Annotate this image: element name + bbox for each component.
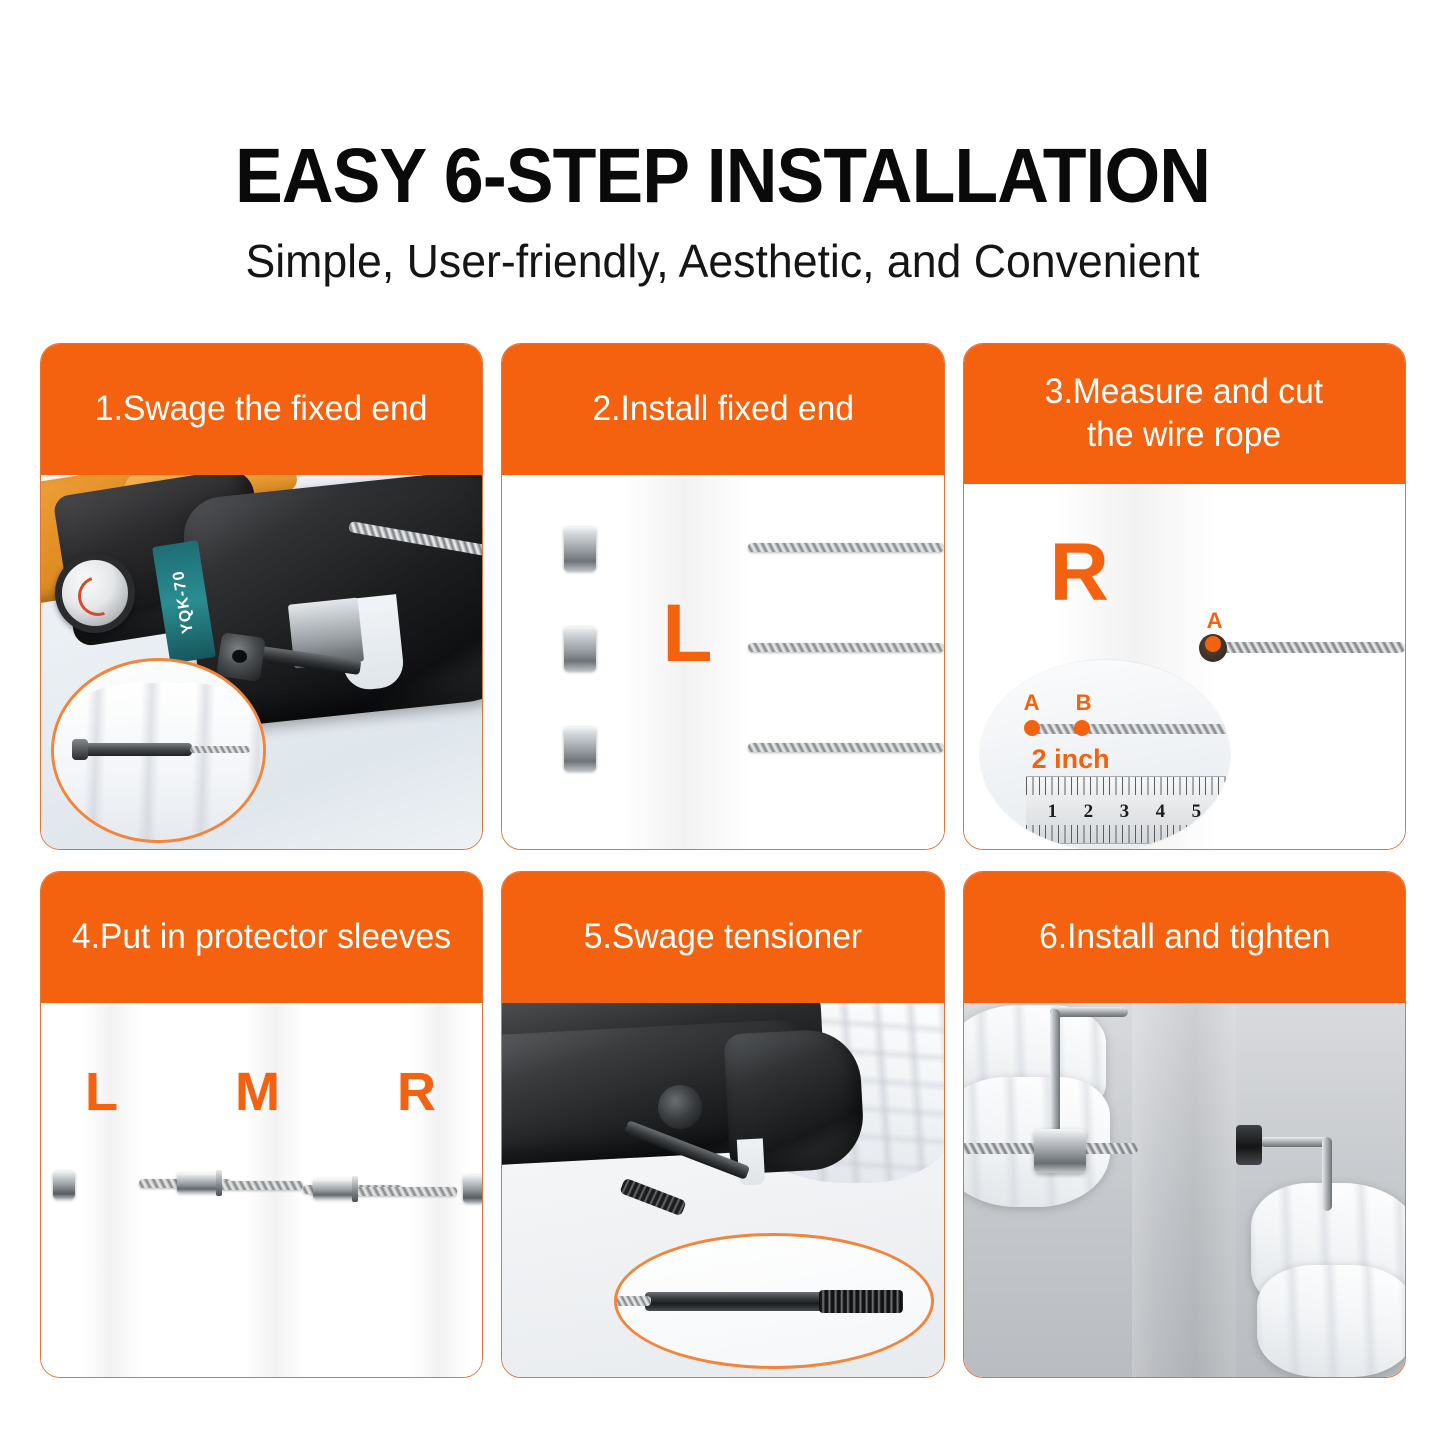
allen-key-right-shaft [1260,1137,1332,1147]
gloved-hand [51,683,266,843]
allen-key-right-handle [1322,1137,1332,1211]
step-2-header: 2.Install fixed end [502,344,943,475]
step-4-title: 4.Put in protector sleeves [72,916,451,959]
ruler-tick-2: 2 [1084,801,1094,823]
detail-inset-circle [51,658,266,843]
pressure-release-knob [55,553,135,633]
step-3-title-line2: the wire rope [1045,414,1323,457]
step-2-title: 2.Install fixed end [592,388,854,431]
tensioner-thread-end [819,1290,903,1313]
step-card-1: 1.Swage the fixed end YQK-70 [40,343,483,850]
infographic-page: EASY 6-STEP INSTALLATION Simple, User-fr… [0,0,1445,1445]
wire-cable-top [748,543,943,552]
ruler-tick-1: 1 [1048,801,1058,823]
ruler: 1 2 3 4 5 [1026,776,1226,844]
wire-cable-middle [748,643,943,652]
post-label-right: R [397,1065,436,1119]
step-3-image: R A A B 2 inch 1 [964,484,1405,849]
wire-cable-bottom [748,743,943,752]
cable-terminal-middle [564,627,596,671]
inset-marker-a-label: A [1024,692,1040,714]
tensioner-wire-end [614,1296,651,1306]
ruler-ticks-top [1026,777,1226,795]
step-card-2: 2.Install fixed end L [501,343,944,850]
page-subtitle: Simple, User-friendly, Aesthetic, and Co… [22,237,1424,285]
ruler-tick-5: 5 [1192,801,1202,823]
step-6-title: 6.Install and tighten [1039,916,1330,959]
inset-wire-rope [190,746,250,753]
ruler-tick-4: 4 [1156,801,1166,823]
detail-inset-oval [614,1233,934,1369]
post-label-left: L [85,1065,118,1119]
step-card-4: 4.Put in protector sleeves L M R [40,871,483,1378]
steps-grid: 1.Swage the fixed end YQK-70 [40,343,1406,1378]
step-6-header: 6.Install and tighten [964,872,1405,1003]
gloved-hand-right-lower [1257,1265,1405,1377]
measurement-label: 2 inch [1032,746,1110,773]
protector-sleeve-1 [177,1173,219,1193]
post-label-right: R [1050,532,1109,614]
wire-cable-span-2b [353,1187,457,1196]
post-label-middle: M [235,1065,280,1119]
inset-marker-b-label: B [1076,692,1092,714]
end-fitting-left [53,1171,75,1199]
wire-cable-span-1b [219,1181,303,1190]
wooden-post-left [65,1003,141,1377]
tensioner-body [1034,1129,1086,1173]
step-5-header: 5.Swage tensioner [502,872,943,1003]
cable-terminal-top [564,527,596,571]
marker-a-label: A [1207,610,1223,632]
title-block: EASY 6-STEP INSTALLATION Simple, User-fr… [0,0,1445,285]
step-3-header: 3.Measure and cut the wire rope [964,344,1405,484]
ruler-numbers: 1 2 3 4 5 [1026,799,1226,825]
tensioner-collar-right [1236,1125,1262,1165]
ruler-ticks-bottom [1026,825,1226,843]
swaged-tensioner [645,1292,901,1311]
tool-brand-text: YQK-70 [170,569,198,635]
swaged-fitting [82,743,192,756]
inset-wire-rope [1028,724,1230,734]
step-2-image: L [502,475,943,849]
inset-marker-b-dot [1074,720,1090,736]
end-fitting-right [463,1175,482,1203]
step-3-title: 3.Measure and cut the wire rope [1045,371,1323,456]
detail-inset-oval: A B 2 inch 1 2 3 4 5 [980,660,1230,849]
step-5-title: 5.Swage tensioner [584,916,862,959]
step-card-5: 5.Swage tensioner [501,871,944,1378]
step-1-image: YQK-70 [41,475,482,849]
wooden-post-middle [229,1003,305,1377]
step-6-image [964,1003,1405,1377]
wooden-post [1132,1003,1236,1377]
swage-stud-head [216,632,266,682]
marker-a-dot [1205,636,1221,652]
ruler-tick-3: 3 [1120,801,1130,823]
allen-key-left-handle [1050,1007,1128,1017]
step-3-title-line1: 3.Measure and cut [1045,371,1323,414]
step-card-6: 6.Install and tighten [963,871,1406,1378]
page-title: EASY 6-STEP INSTALLATION [51,138,1395,215]
cable-terminal-bottom [564,727,596,771]
inset-marker-a-dot [1024,720,1040,736]
step-4-header: 4.Put in protector sleeves [41,872,482,1003]
post-label-left: L [662,593,712,675]
step-card-3: 3.Measure and cut the wire rope R A A B [963,343,1406,850]
step-1-title: 1.Swage the fixed end [95,388,428,431]
step-5-image [502,1003,943,1377]
step-4-image: L M R [41,1003,482,1377]
protector-sleeve-2 [313,1179,355,1199]
step-1-header: 1.Swage the fixed end [41,344,482,475]
wire-rope [1216,642,1405,653]
allen-key-left-shaft [1050,1009,1060,1137]
